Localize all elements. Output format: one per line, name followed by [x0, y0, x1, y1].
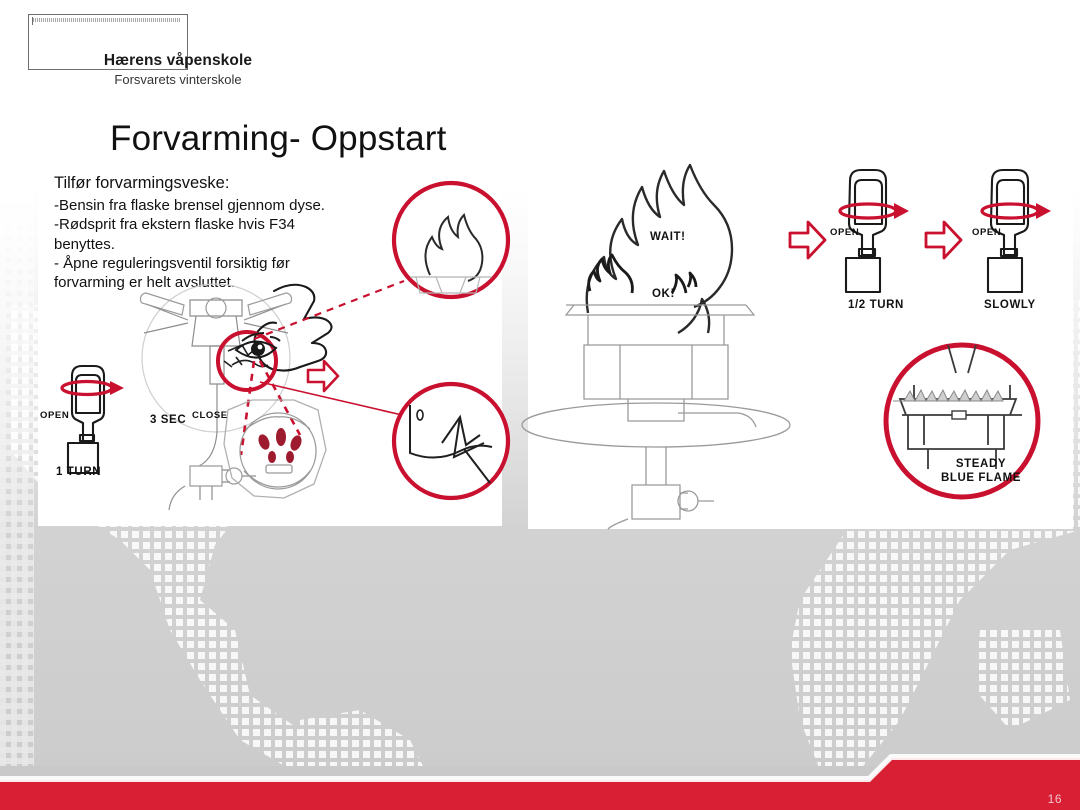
- page-title: Forvarming- Oppstart: [110, 119, 447, 159]
- label-half-turn: 1/2 TURN: [848, 299, 904, 311]
- burner-top-view: [224, 400, 326, 498]
- pump-open-icon: [62, 366, 124, 473]
- label-blue-flame: BLUE FLAME: [921, 472, 1041, 484]
- footer-red-shape: [0, 754, 1080, 810]
- organization-subtitle: Forsvarets vinterskole: [28, 72, 328, 87]
- label-3-sec: 3 SEC: [150, 414, 186, 426]
- slide: Hærens våpenskole Forsvarets vinterskole…: [0, 0, 1080, 810]
- flame-detail-circle: [394, 183, 508, 297]
- label-steady: STEADY: [941, 458, 1021, 470]
- needle-detail-circle: [394, 384, 508, 498]
- preheat-illustration: [38, 165, 502, 526]
- label-1-turn: 1 TURN: [56, 466, 101, 478]
- label-open-1: OPEN: [830, 227, 859, 238]
- organization-name: Hærens våpenskole: [28, 52, 328, 70]
- page-number: 16: [1048, 792, 1062, 806]
- stove-outline: [522, 305, 790, 529]
- label-wait: WAIT!: [650, 231, 686, 243]
- label-open-left: OPEN: [40, 410, 69, 421]
- label-close: CLOSE: [192, 410, 228, 421]
- chevron-arrow-2: [926, 222, 961, 258]
- large-flame-outline: [587, 165, 732, 333]
- chevron-arrow-1: [790, 222, 825, 258]
- left-edge-dot-texture: [0, 120, 34, 780]
- jet-detail-circle-small: [218, 332, 276, 390]
- label-slowly: SLOWLY: [984, 299, 1036, 311]
- burner-flame-dots: [256, 428, 303, 463]
- footer-band: 16: [0, 754, 1080, 810]
- chevron-arrow-right: [308, 361, 338, 391]
- label-open-2: OPEN: [972, 227, 1001, 238]
- logo-microtext: [33, 18, 181, 22]
- label-ok: OK!: [652, 288, 675, 300]
